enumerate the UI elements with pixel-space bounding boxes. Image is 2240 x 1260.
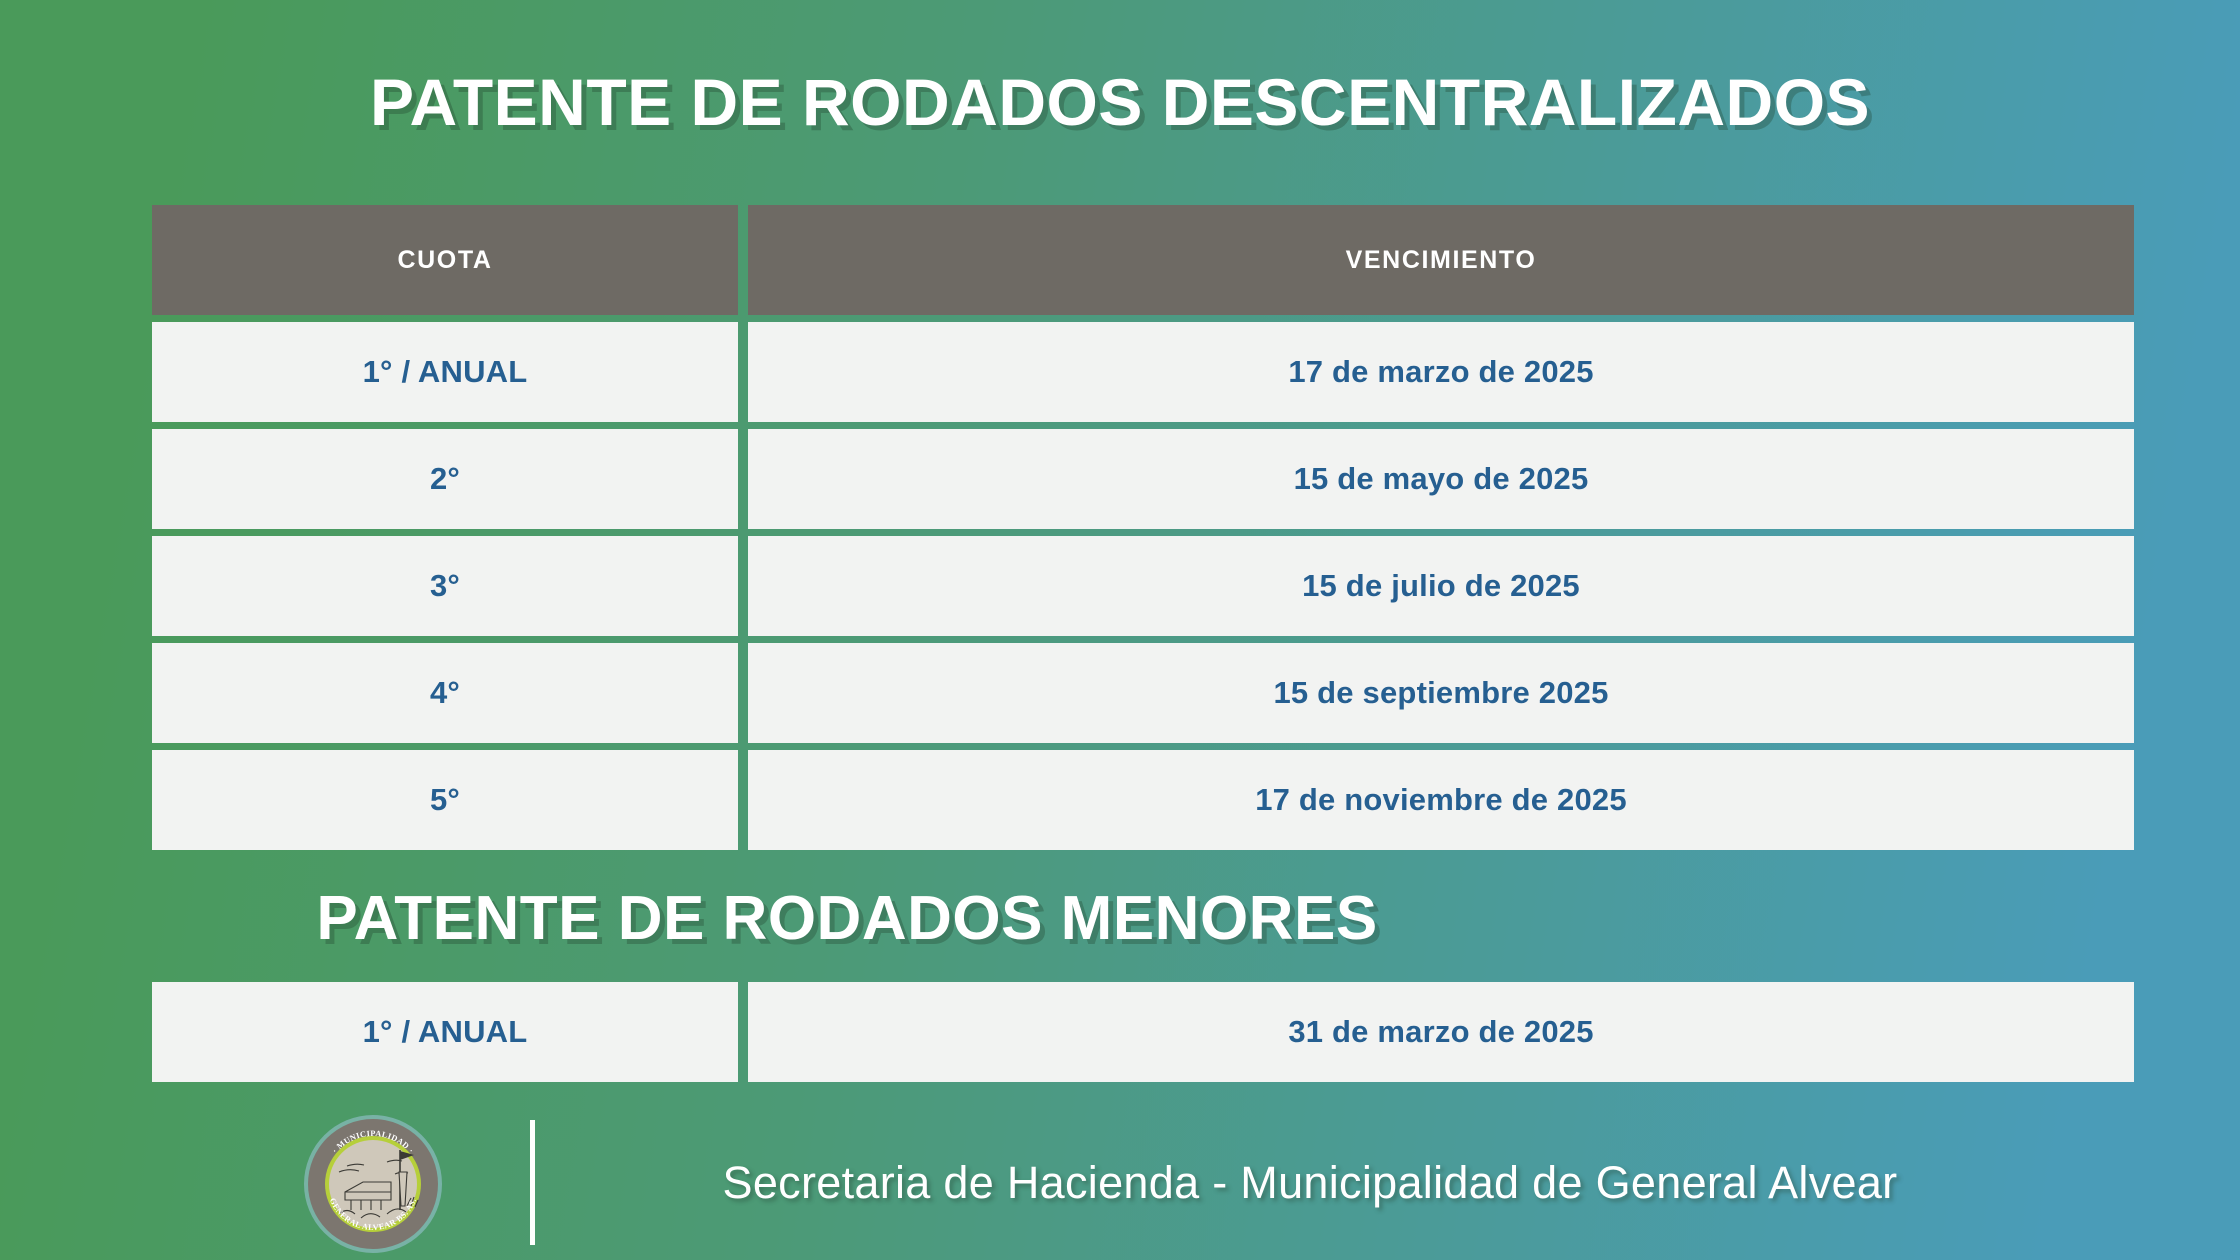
table-row: 3° 15 de julio de 2025 bbox=[152, 536, 2134, 636]
cell-cuota: 1° / ANUAL bbox=[152, 322, 738, 422]
cell-vencimiento: 17 de marzo de 2025 bbox=[748, 322, 2134, 422]
table-rodados-descentralizados: CUOTA VENCIMIENTO 1° / ANUAL 17 de marzo… bbox=[152, 205, 2134, 850]
cell-cuota: 3° bbox=[152, 536, 738, 636]
cell-vencimiento: 15 de mayo de 2025 bbox=[748, 429, 2134, 529]
footer-divider bbox=[530, 1120, 535, 1245]
table-row: 1° / ANUAL 31 de marzo de 2025 bbox=[152, 982, 2134, 1082]
cell-cuota: 5° bbox=[152, 750, 738, 850]
cell-vencimiento: 15 de julio de 2025 bbox=[748, 536, 2134, 636]
table-header-row: CUOTA VENCIMIENTO bbox=[152, 205, 2134, 315]
cell-vencimiento: 31 de marzo de 2025 bbox=[748, 982, 2134, 1082]
cell-cuota: 2° bbox=[152, 429, 738, 529]
footer: · MUNICIPALIDAD · GENERAL ALVEAR BS. AS.… bbox=[0, 1108, 2240, 1258]
cell-vencimiento: 17 de noviembre de 2025 bbox=[748, 750, 2134, 850]
table-rodados-menores: 1° / ANUAL 31 de marzo de 2025 bbox=[152, 982, 2134, 1082]
footer-label: Secretaria de Hacienda - Municipalidad d… bbox=[560, 1108, 2240, 1258]
table-row: 5° 17 de noviembre de 2025 bbox=[152, 750, 2134, 850]
poster-root: PATENTE DE RODADOS DESCENTRALIZADOS CUOT… bbox=[0, 0, 2240, 1260]
page-title: PATENTE DE RODADOS DESCENTRALIZADOS bbox=[0, 62, 2240, 142]
section-title-menores: PATENTE DE RODADOS MENORES bbox=[152, 882, 1542, 956]
table-row: 2° 15 de mayo de 2025 bbox=[152, 429, 2134, 529]
table-row: 1° / ANUAL 17 de marzo de 2025 bbox=[152, 322, 2134, 422]
column-header-vencimiento: VENCIMIENTO bbox=[748, 205, 2134, 315]
cell-vencimiento: 15 de septiembre 2025 bbox=[748, 643, 2134, 743]
column-header-cuota: CUOTA bbox=[152, 205, 738, 315]
cell-cuota: 4° bbox=[152, 643, 738, 743]
municipality-seal-logo: · MUNICIPALIDAD · GENERAL ALVEAR BS. AS. bbox=[303, 1114, 443, 1254]
table-row: 4° 15 de septiembre 2025 bbox=[152, 643, 2134, 743]
cell-cuota: 1° / ANUAL bbox=[152, 982, 738, 1082]
